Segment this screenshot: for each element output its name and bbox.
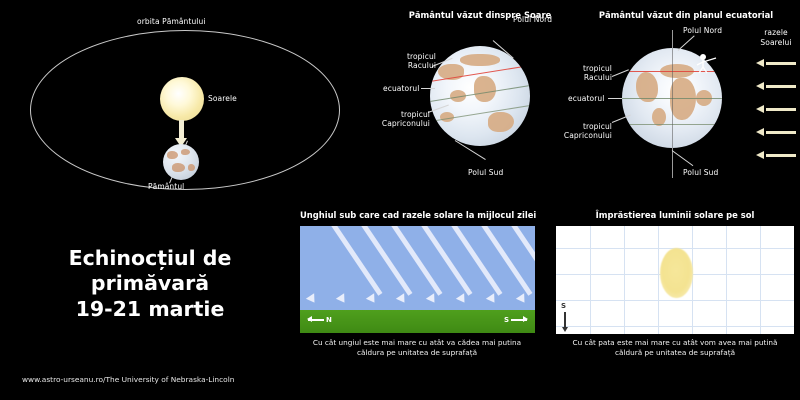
sun-ray-arrow: [756, 59, 796, 68]
spread-caption-line2: căldură pe unitatea de suprafață: [615, 348, 735, 357]
gridline: [590, 226, 591, 334]
sun-beam-head: [516, 293, 529, 305]
headline-line2: 19-21 martie: [14, 297, 286, 322]
continent-shape: [188, 164, 195, 171]
globe-from-sun-tropic-cancer-label: tropicul Racului: [392, 52, 436, 71]
sun-ray-arrow-shaft: [766, 131, 796, 134]
sun-rays-line2: Soarelui: [760, 38, 791, 47]
globe-equatorial-north-pole-label: Polul Nord: [683, 26, 722, 35]
globe-from-sun-tropic-capricorn-label: tropicul Capriconului: [376, 110, 430, 129]
south-arrow-icon: [564, 312, 566, 327]
globe-equatorial-tropic-cancer-label: tropicul Racului: [570, 64, 612, 83]
tropic-cancer-line2: Racului: [584, 73, 612, 82]
equator-leader: [421, 88, 435, 89]
west-arrow-icon: [308, 319, 324, 321]
sun-beam-head: [486, 293, 499, 305]
gridline: [624, 226, 625, 334]
infographic-canvas: orbita Pământului Soarele Pământul Pămân…: [0, 0, 800, 400]
sky-area: [300, 226, 535, 310]
tropic-capricorn-line2: Capriconului: [382, 119, 430, 128]
continent-shape: [172, 163, 185, 172]
tropic-cancer-line1: tropicul: [407, 52, 436, 61]
spread-panel-title: Împrăstierea luminii solare pe sol: [556, 210, 794, 220]
sun-ray-arrow-head: [756, 82, 764, 90]
tropic-cancer-line2: Racului: [408, 61, 436, 70]
sun-ray-arrow: [756, 128, 796, 137]
angle-caption-line2: căldura pe unitatea de suprafață: [357, 348, 477, 357]
earth-label: Pământul: [148, 182, 184, 191]
north-direction-marker: N: [308, 316, 332, 324]
equator-leader: [608, 98, 622, 99]
spread-caption-line1: Cu cât pata este mai mare cu atât vom av…: [573, 338, 778, 347]
globe-from-sun-south-pole-label: Polul Sud: [468, 168, 503, 177]
sun-rays-label: razele Soarelui: [754, 28, 798, 48]
south-marker-label: S: [561, 302, 566, 310]
terminator-line: [672, 48, 673, 148]
sun-ray-arrow-head: [756, 151, 764, 159]
sun-beam-head: [396, 293, 409, 305]
sun-beam-head: [336, 293, 349, 305]
sun-ray-arrow-shaft: [766, 62, 796, 65]
page-title: Echinocțiul de primăvară 19-21 martie: [14, 246, 286, 322]
earth-graphic: [163, 144, 199, 180]
sun-ray-arrow-shaft: [766, 85, 796, 88]
gridline: [760, 226, 761, 334]
globe-equatorial-equator-label: ecuatorul: [568, 94, 604, 103]
sunlight-spot: [660, 248, 693, 298]
sun-ray-arrow-shaft: [766, 108, 796, 111]
tropic-capricorn-line1: tropicul: [401, 110, 430, 119]
sun-ray-arrow-head: [756, 105, 764, 113]
continent-shape: [181, 149, 190, 155]
south-direction-marker: S: [504, 316, 527, 324]
spread-panel-caption: Cu cât pata este mai mare cu atât vom av…: [546, 338, 800, 358]
gridline: [556, 326, 794, 327]
sun-rays-line1: razele: [764, 28, 788, 37]
ground-area: N S: [300, 310, 535, 333]
tropic-capricorn-line2: Capriconului: [564, 131, 612, 140]
globe-equatorial-tropic-capricorn-label: tropicul Capriconului: [558, 122, 612, 141]
angle-panel-title: Unghiul sub care cad razele solare la mi…: [300, 210, 535, 220]
sun-ray-arrow: [756, 151, 796, 160]
sun-beam-head: [426, 293, 439, 305]
landmass: [460, 54, 500, 66]
north-marker-label: N: [326, 316, 332, 324]
sun-ray-arrow-shaft: [766, 154, 796, 157]
south-marker-label: S: [504, 316, 509, 324]
angle-panel-caption: Cu cât ungiul este mai mare cu atât va c…: [288, 338, 546, 358]
sun-graphic: [160, 77, 204, 121]
east-arrow-icon: [511, 319, 527, 321]
globe-from-sun-equator-label: ecuatorul: [383, 84, 419, 93]
sun-beam-head: [306, 293, 319, 305]
globe-equatorial-title: Pământul văzut din planul ecuatorial: [578, 10, 794, 20]
sun-ray-arrow: [756, 82, 796, 91]
sun-label: Soarele: [208, 94, 237, 103]
gridline: [556, 300, 794, 301]
sun-beam-head: [456, 293, 469, 305]
continent-shape: [167, 151, 178, 159]
credit-footer: www.astro-urseanu.ro/The University of N…: [22, 375, 234, 384]
sun-ray-arrow: [756, 105, 796, 114]
landmass: [670, 78, 696, 120]
sun-ray-arrow-head: [756, 59, 764, 67]
gridline: [658, 226, 659, 334]
sun-ray-arrow-head: [756, 128, 764, 136]
globe-from-sun-north-pole-label: Polul Nord: [513, 15, 552, 24]
north-pole-leader: [678, 35, 695, 50]
gridline: [726, 226, 727, 334]
orbit-label: orbita Pământului: [137, 17, 206, 26]
light-spread-panel: S: [556, 226, 794, 334]
landmass: [488, 112, 514, 132]
south-pole-leader: [672, 150, 694, 166]
tropic-cancer-line1: tropicul: [583, 64, 612, 73]
angle-of-incidence-panel: N S: [300, 226, 535, 333]
globe-equatorial-south-pole-label: Polul Sud: [683, 168, 718, 177]
observer-person-icon: [694, 52, 720, 76]
headline-line1: Echinocțiul de primăvară: [69, 246, 232, 295]
tropic-capricorn-line1: tropicul: [583, 122, 612, 131]
sun-beam-head: [366, 293, 379, 305]
angle-caption-line1: Cu cât ungiul este mai mare cu atât va c…: [313, 338, 521, 347]
landmass: [474, 76, 496, 102]
